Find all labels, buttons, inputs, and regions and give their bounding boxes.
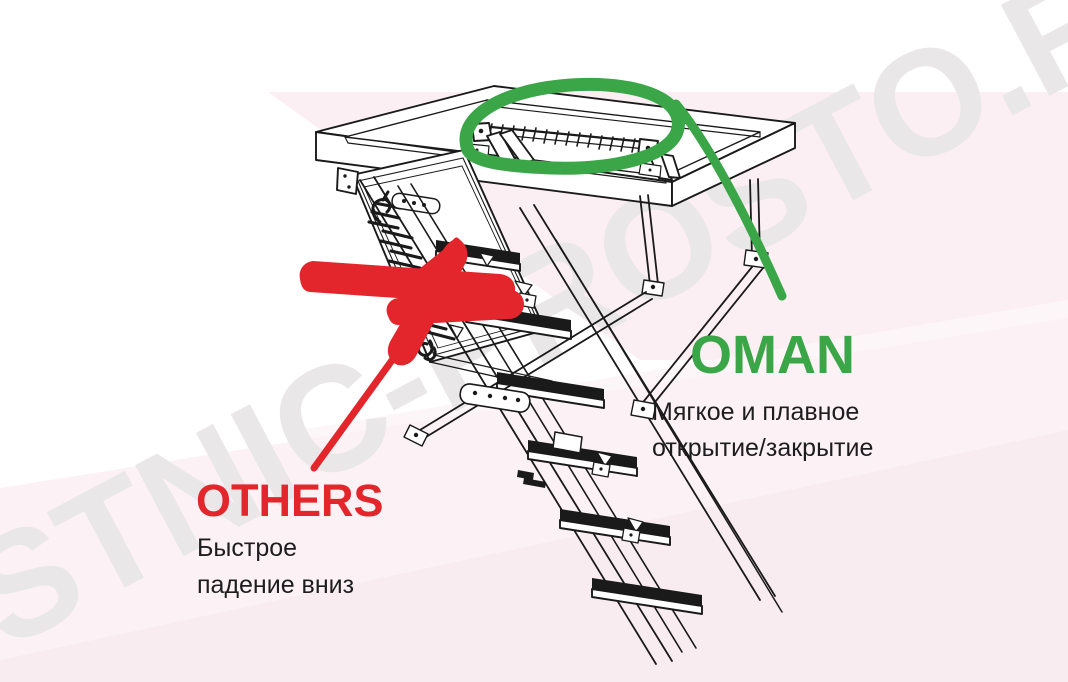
green-leader-line	[676, 104, 782, 296]
oman-title: OMAN	[690, 328, 855, 382]
oman-subtitle-line1: Мягкое и плавное	[652, 394, 982, 430]
marker-annotations	[0, 0, 1068, 682]
illustration-canvas: LESTNIC-PROSTO.RU	[0, 0, 1068, 682]
others-subtitle: Быстрое падение вниз	[197, 530, 497, 603]
green-ellipse-highlight	[466, 84, 678, 168]
others-title: OTHERS	[196, 478, 384, 523]
oman-subtitle: Мягкое и плавное открытие/закрытие	[652, 394, 982, 466]
others-subtitle-line2: падение вниз	[197, 567, 497, 604]
oman-subtitle-line2: открытие/закрытие	[652, 430, 982, 466]
others-subtitle-line1: Быстрое	[197, 530, 497, 567]
red-arrow	[300, 237, 524, 468]
